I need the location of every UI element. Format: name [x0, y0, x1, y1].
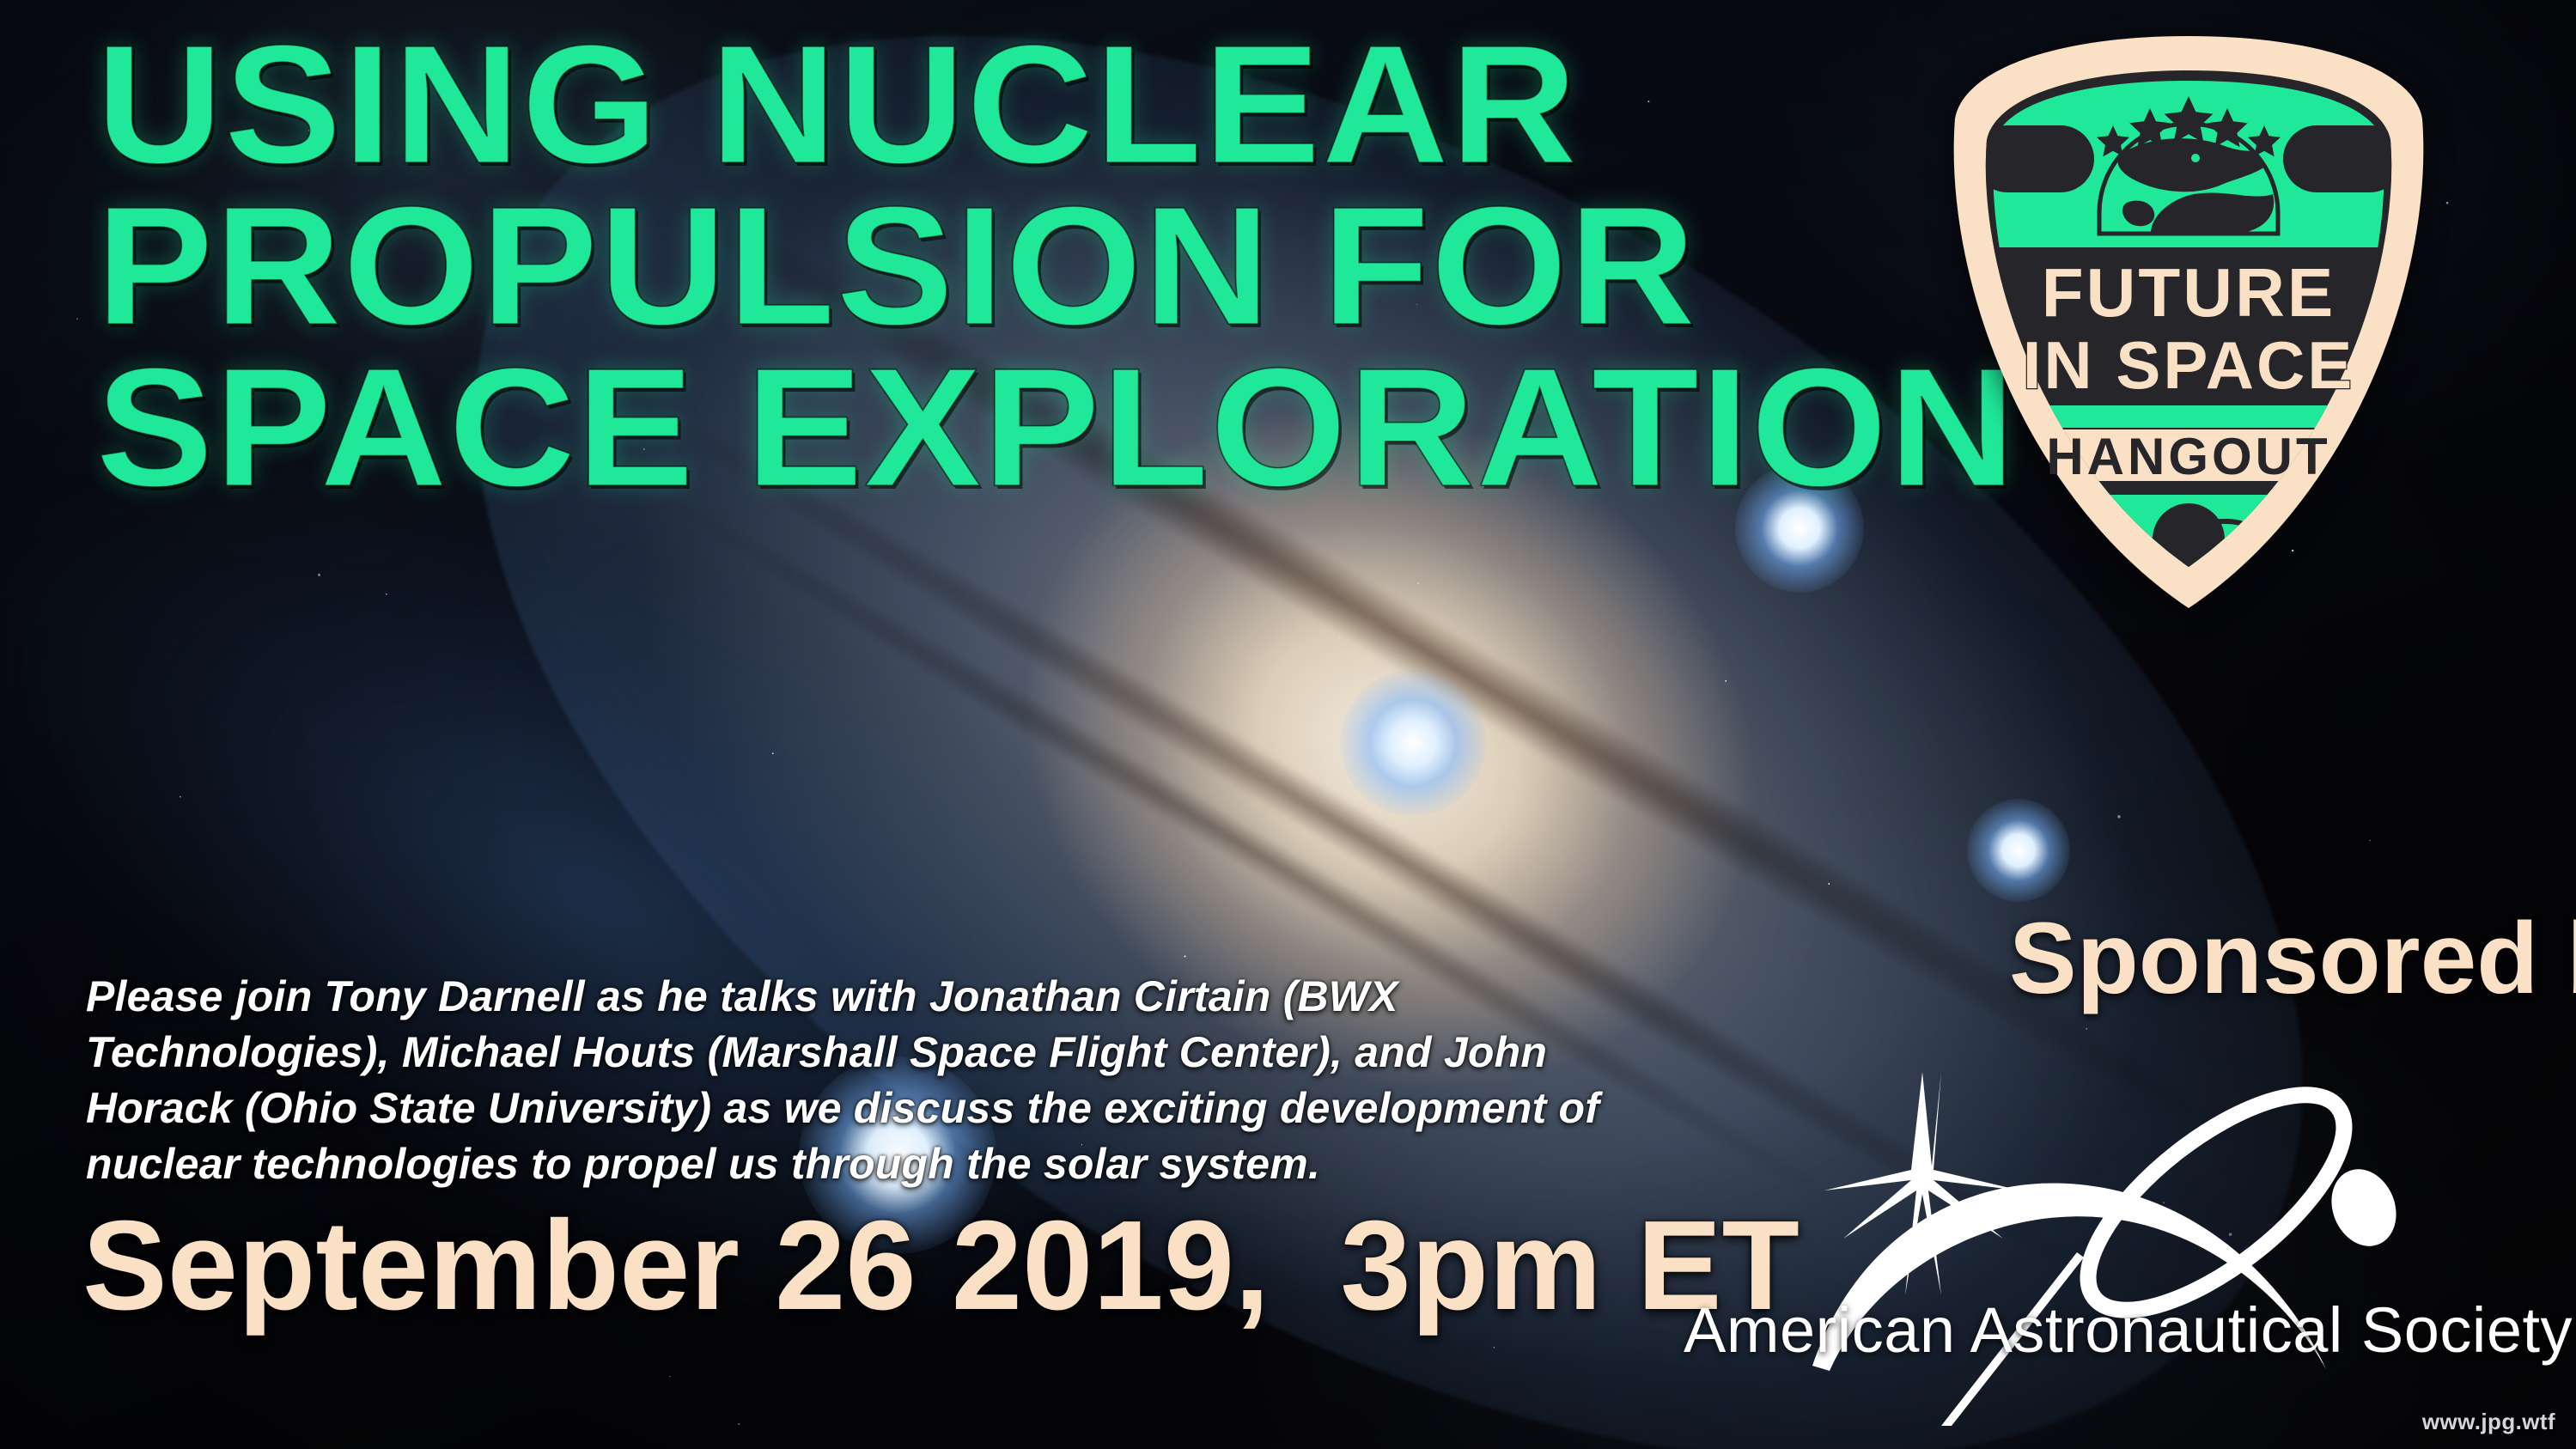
page-title: USING NUCLEAR PROPULSION FOR SPACE EXPLO…: [96, 24, 1883, 508]
american-astronautical-society-logo[interactable]: American Astronautical Society: [1684, 1022, 2560, 1426]
badge-line-1-text: FUTURE: [2042, 254, 2335, 331]
site-watermark: www.jpg.wtf: [2422, 1409, 2555, 1435]
badge-line-2-text: IN SPACE: [2023, 327, 2355, 403]
badge-planet-dot-2: [2240, 186, 2250, 196]
headline-line-1: USING NUCLEAR: [96, 24, 1954, 186]
badge-right-bar: [2283, 125, 2403, 192]
poster-canvas: USING NUCLEAR PROPULSION FOR SPACE EXPLO…: [0, 0, 2576, 1449]
badge-line-3-text: HANGOUT: [2046, 428, 2330, 485]
badge-green-rule: [2010, 405, 2367, 428]
future-in-space-hangout-logo[interactable]: FUTURE IN SPACE HANGOUT: [1936, 17, 2441, 627]
badge-planet-dot-1: [2191, 154, 2200, 162]
event-description: Please join Tony Darnell as he talks wit…: [86, 969, 1658, 1192]
aas-wordmark: American Astronautical Society: [1684, 1299, 2560, 1362]
sponsored-by-label: Sponsored by: [2009, 908, 2576, 1009]
event-datetime: September 26 2019, 3pm ET: [82, 1202, 1800, 1330]
headline-line-3: SPACE EXPLORATION: [96, 347, 1954, 508]
headline-line-2: PROPULSION FOR: [96, 186, 1954, 347]
badge-left-bar: [1974, 125, 2094, 192]
